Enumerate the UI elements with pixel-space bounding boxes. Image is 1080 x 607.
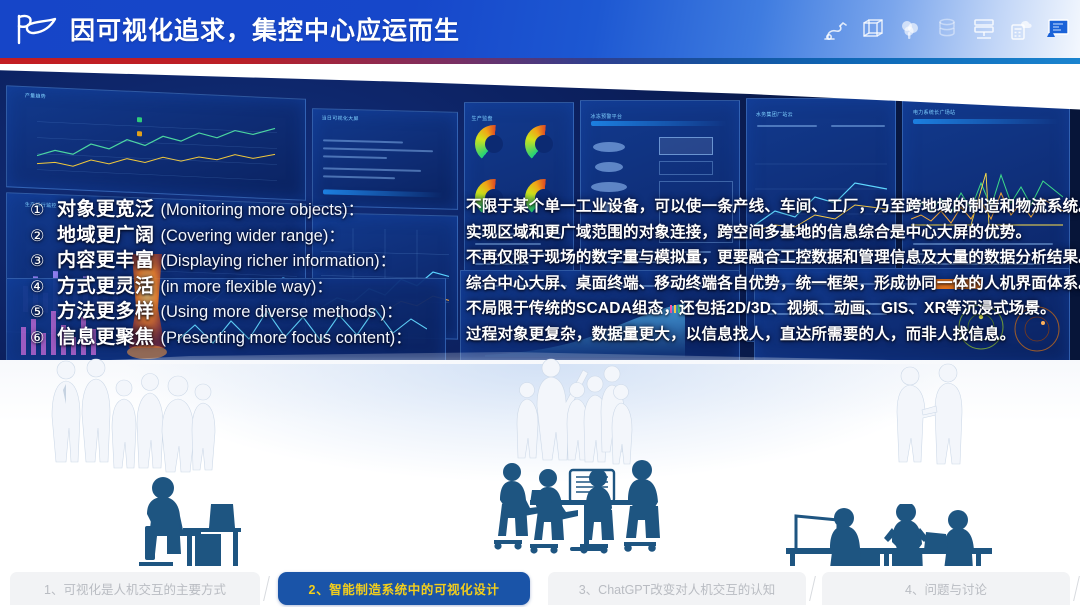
list-item-en: (Covering wider range)： [161, 222, 345, 246]
list-item: ④ 方式更灵活 (in more flexible way)： [30, 271, 460, 297]
section-nav: 1、可视化是人机交互的主要方式 2、智能制造系统中的可视化设计 3、ChatGP… [0, 572, 1080, 607]
list-item-number: ⑥ [30, 328, 57, 348]
nav-tab-2[interactable]: 2、智能制造系统中的可视化设计 [278, 572, 530, 605]
slide-text-overlay: ① 对象更宽泛 (Monitoring more objects)： ② 地域更… [0, 64, 1080, 566]
list-item-en: (Displaying richer information)： [161, 247, 397, 271]
description-line: 不再仅限于现场的数字量与模拟量，更要融合工控数据和管理信息及大量的数据分析结果。 [466, 245, 1072, 271]
list-item-cn: 方式更灵活 [57, 271, 155, 298]
list-item: ② 地域更广阔 (Covering wider range)： [30, 220, 460, 246]
list-item-cn: 方法更多样 [57, 296, 155, 323]
cloud-compute-icon [1007, 14, 1035, 44]
control-screen-icon [1044, 14, 1072, 44]
slide-root: 因可视化追求，集控中心应运而生 [0, 0, 1080, 607]
description-line: 不限于某个单一工业设备，可以使一条产线、车间、工厂，乃至跨地域的制造和物流系统。 [466, 194, 1072, 220]
description-column: 不限于某个单一工业设备，可以使一条产线、车间、工厂，乃至跨地域的制造和物流系统。… [466, 194, 1072, 347]
feature-list: ① 对象更宽泛 (Monitoring more objects)： ② 地域更… [30, 194, 460, 347]
nav-tab-3[interactable]: 3、ChatGPT改变对人机交互的认知 [548, 572, 806, 605]
list-item-cn: 地域更广阔 [57, 220, 155, 247]
description-line: 综合中心大屏、桌面终端、移动终端各自优势，统一框架，形成协同一体的人机界面体系。 [466, 271, 1072, 297]
list-item-number: ① [30, 200, 57, 220]
flag-logo-icon [14, 12, 60, 46]
list-item-number: ③ [30, 251, 57, 271]
list-item-en: (in more flexible way)： [161, 273, 333, 297]
description-line: 过程对象更复杂，数据量更大，以信息找人，直达所需要的人，而非人找信息。 [466, 322, 1072, 348]
list-item: ⑤ 方法更多样 (Using more diverse methods )： [30, 296, 460, 322]
cloud-tree-icon [896, 14, 924, 44]
description-line: 不局限于传统的SCADA组态，还包括2D/3D、视频、动画、GIS、XR等沉浸式… [466, 296, 1072, 322]
list-item-en: (Presenting more focus content)： [161, 324, 412, 348]
cube-3d-icon [859, 14, 887, 44]
list-item-cn: 信息更聚焦 [57, 322, 155, 349]
list-item-cn: 内容更丰富 [57, 245, 155, 272]
server-rack-icon [970, 14, 998, 44]
list-item-en: (Monitoring more objects)： [161, 196, 365, 220]
robot-arm-icon [822, 14, 850, 44]
nav-tab-1[interactable]: 1、可视化是人机交互的主要方式 [10, 572, 260, 605]
list-item-cn: 对象更宽泛 [57, 194, 155, 221]
list-item-en: (Using more diverse methods )： [161, 298, 403, 322]
page-title: 因可视化追求，集控中心应运而生 [70, 11, 460, 47]
list-item-number: ④ [30, 277, 57, 297]
nav-tab-4[interactable]: 4、问题与讨论 [822, 572, 1070, 605]
list-item: ① 对象更宽泛 (Monitoring more objects)： [30, 194, 460, 220]
header-icon-row [822, 13, 1072, 45]
list-item: ⑥ 信息更聚焦 (Presenting more focus content)： [30, 322, 460, 348]
list-item-number: ⑤ [30, 302, 57, 322]
description-line: 实现区域和更广域范围的对象连接，跨空间多基地的信息综合是中心大屏的优势。 [466, 220, 1072, 246]
database-stack-icon [933, 14, 961, 44]
list-item: ③ 内容更丰富 (Displaying richer information)： [30, 245, 460, 271]
list-item-number: ② [30, 226, 57, 246]
slide-header: 因可视化追求，集控中心应运而生 [0, 0, 1080, 58]
